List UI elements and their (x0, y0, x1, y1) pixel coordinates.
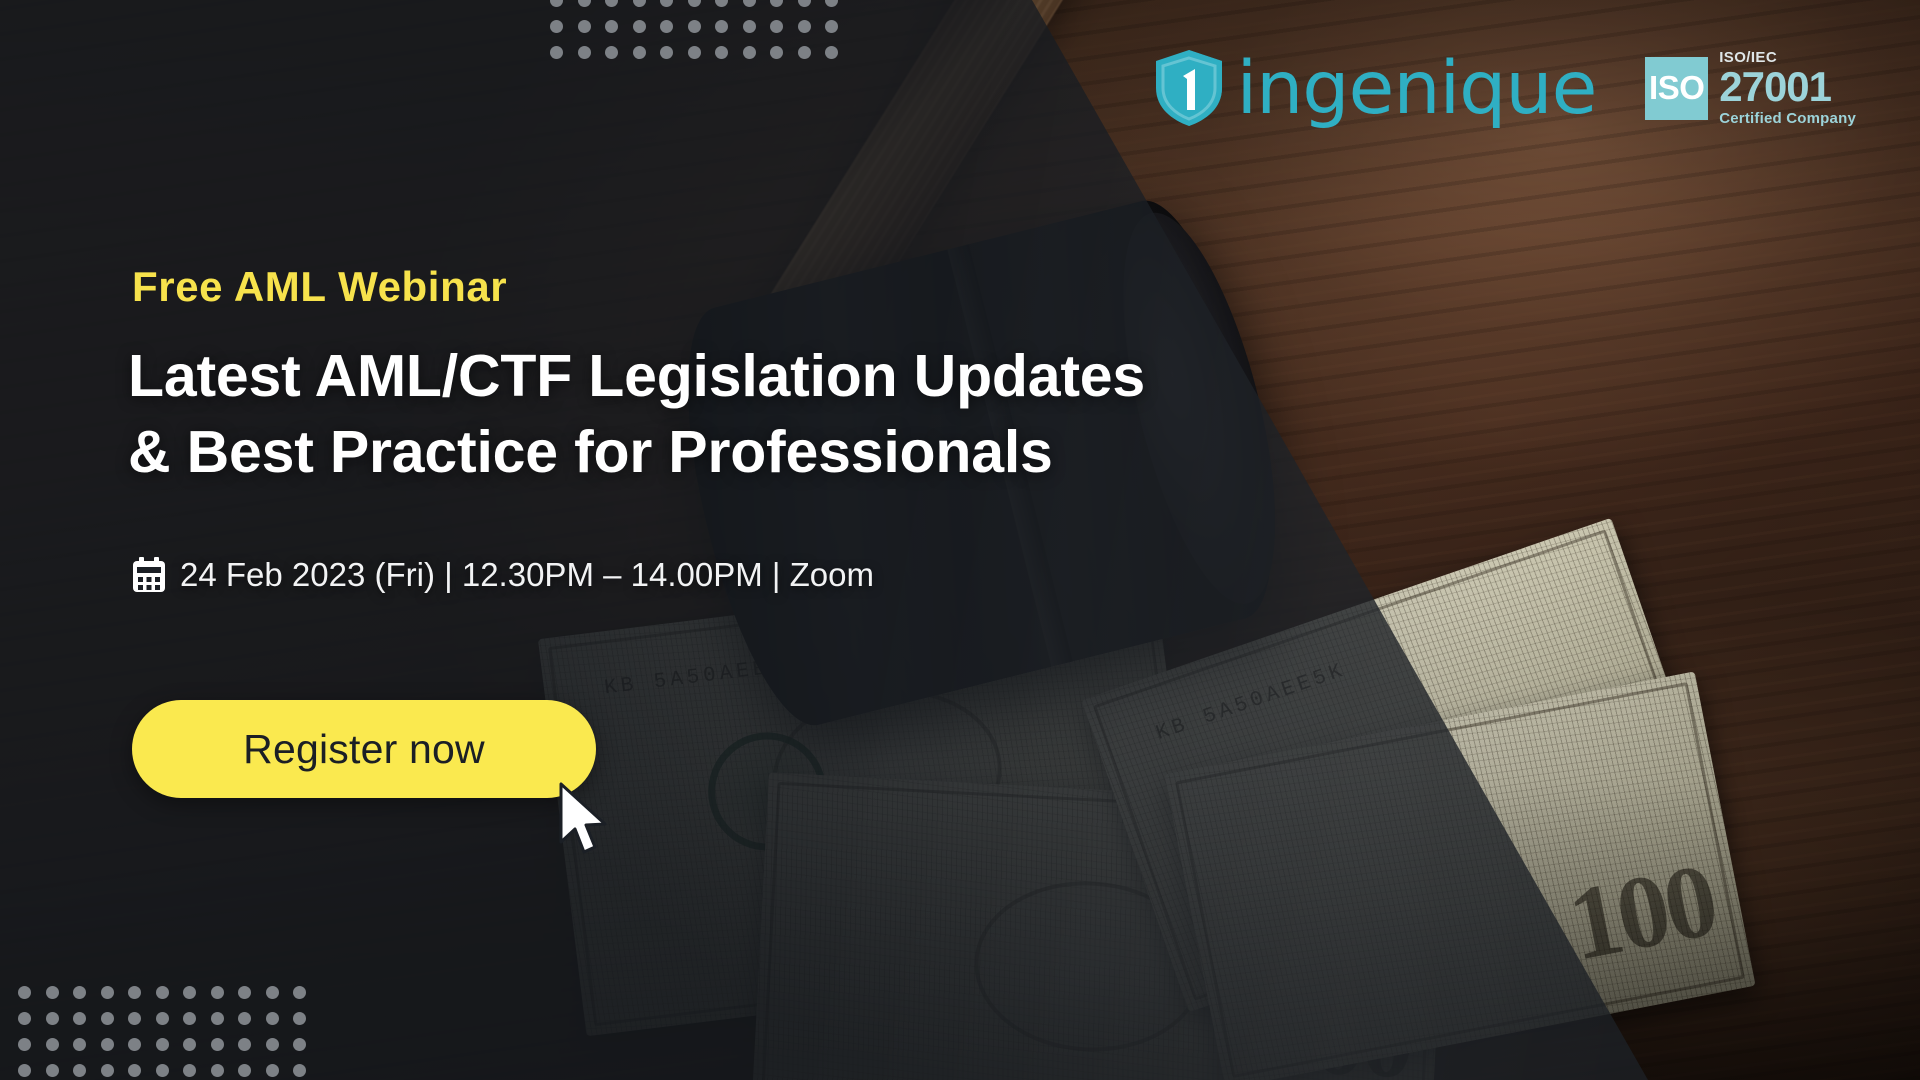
decor-dot (73, 1038, 86, 1051)
iso-standard-number: 27001 (1719, 67, 1856, 107)
decor-dot (18, 1038, 31, 1051)
hero-content: Free AML Webinar Latest AML/CTF Legislat… (132, 0, 1232, 1080)
decor-dot (46, 1038, 59, 1051)
iso-certification-badge: ISO ISO/IEC 27001 Certified Company (1645, 50, 1856, 125)
iso-text-block: ISO/IEC 27001 Certified Company (1719, 50, 1856, 125)
decor-dot (46, 986, 59, 999)
headline-line-1: Latest AML/CTF Legislation Updates (128, 338, 1145, 414)
iso-caption: Certified Company (1719, 111, 1856, 126)
decor-dot (101, 1038, 114, 1051)
decor-dot (73, 1012, 86, 1025)
logo-row: ingenique ISO ISO/IEC 27001 Certified Co… (1152, 48, 1856, 128)
decor-dot (73, 986, 86, 999)
webinar-banner: KB 5A50AEE5K 100 100 KB 5A50AEE5K 100 10… (0, 0, 1920, 1080)
event-details: 24 Feb 2023 (Fri) | 12.30PM – 14.00PM | … (132, 556, 874, 594)
decor-dot (101, 1064, 114, 1077)
brand-wordmark: ingenique (1237, 52, 1597, 125)
decor-dot (46, 1012, 59, 1025)
decor-dot (46, 1064, 59, 1077)
decor-dot (18, 1064, 31, 1077)
decor-dot (18, 1012, 31, 1025)
event-details-text: 24 Feb 2023 (Fri) | 12.30PM – 14.00PM | … (180, 556, 874, 594)
decor-dot (101, 1012, 114, 1025)
decor-dot (73, 1064, 86, 1077)
iso-square-label: ISO (1645, 57, 1708, 120)
headline-line-2: & Best Practice for Professionals (128, 414, 1145, 490)
decor-dot (18, 986, 31, 999)
register-now-button[interactable]: Register now (132, 700, 596, 798)
page-title: Latest AML/CTF Legislation Updates & Bes… (128, 338, 1145, 490)
decor-dot (101, 986, 114, 999)
eyebrow-label: Free AML Webinar (132, 263, 507, 311)
calendar-icon (132, 557, 166, 593)
